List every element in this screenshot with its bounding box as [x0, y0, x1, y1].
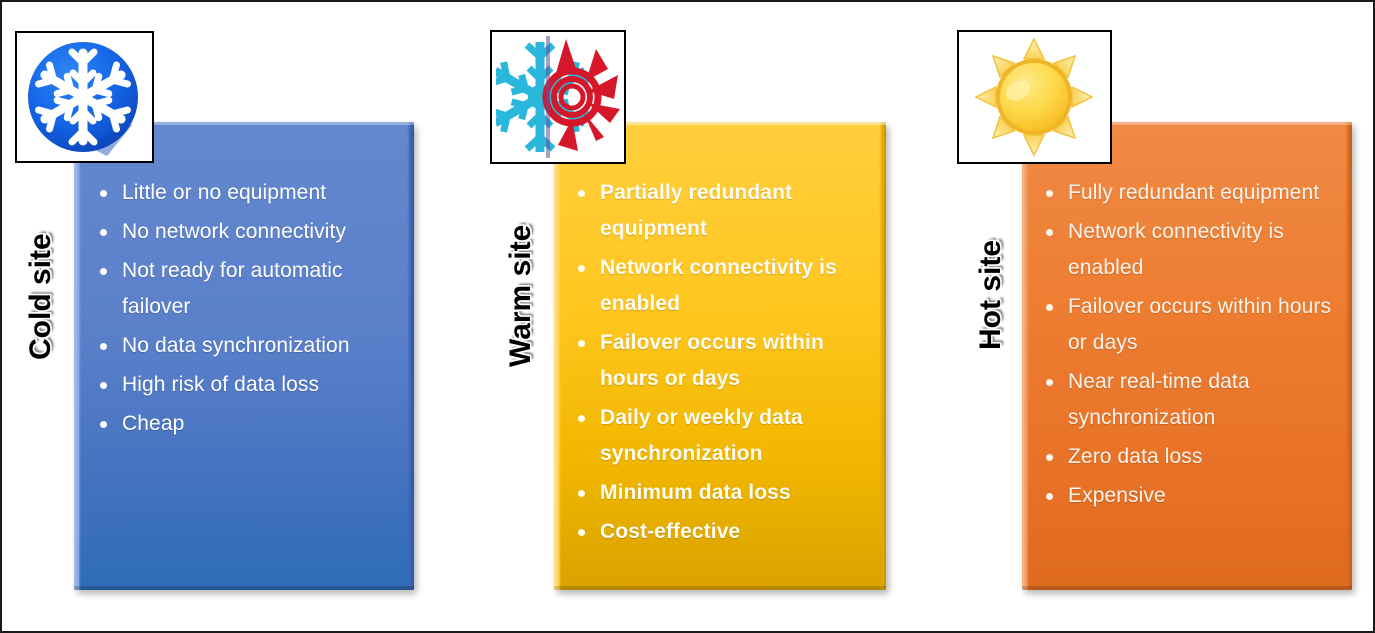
snowflake-icon [15, 31, 154, 163]
list-item: Failover occurs within hours or days [1040, 289, 1342, 361]
card-bevel-left [1022, 122, 1029, 590]
list-item: Network connectivity is enabled [572, 250, 872, 322]
hot-site-bullet-list: Fully redundant equipment Network connec… [1040, 175, 1342, 517]
card-bevel-bottom [1022, 586, 1352, 590]
snowflake-sun-split-icon [490, 30, 626, 164]
column-hot-site: Fully redundant equipment Network connec… [952, 2, 1375, 633]
warm-site-label: Warm site [504, 225, 538, 367]
column-warm-site: Partially redundant equipment Network co… [482, 2, 922, 633]
card-bevel-left [554, 122, 561, 590]
list-item: No data synchronization [94, 328, 402, 364]
list-item: Expensive [1040, 478, 1342, 514]
warm-site-bullet-list: Partially redundant equipment Network co… [572, 175, 872, 553]
list-item: Cost-effective [572, 514, 872, 550]
list-item: Zero data loss [1040, 439, 1342, 475]
list-item: Minimum data loss [572, 475, 872, 511]
card-bevel-bottom [554, 586, 886, 590]
list-item: High risk of data loss [94, 367, 402, 403]
column-cold-site: Little or no equipment No network connec… [2, 2, 462, 633]
list-item: Failover occurs within hours or days [572, 325, 872, 397]
card-bevel-bottom [74, 586, 414, 590]
card-bevel-right [407, 122, 414, 590]
sun-icon-glyph [963, 36, 1106, 158]
cold-site-bullet-list: Little or no equipment No network connec… [94, 175, 402, 445]
list-item: No network connectivity [94, 214, 402, 250]
list-item: Fully redundant equipment [1040, 175, 1342, 211]
sun-icon [957, 30, 1112, 164]
card-bevel-left [74, 122, 81, 590]
diagram-canvas: Little or no equipment No network connec… [0, 0, 1375, 633]
list-item: Daily or weekly data synchronization [572, 400, 872, 472]
list-item: Partially redundant equipment [572, 175, 872, 247]
list-item: Little or no equipment [94, 175, 402, 211]
list-item: Cheap [94, 406, 402, 442]
hot-site-label: Hot site [974, 240, 1008, 350]
snowflake-sun-split-icon-glyph [496, 36, 620, 158]
list-item: Network connectivity is enabled [1040, 214, 1342, 286]
list-item: Near real-time data synchronization [1040, 364, 1342, 436]
cold-site-label: Cold site [24, 233, 58, 360]
card-bevel-right [879, 122, 886, 590]
list-item: Not ready for automatic failover [94, 253, 402, 325]
snowflake-icon-glyph [21, 36, 149, 158]
card-bevel-right [1345, 122, 1352, 590]
